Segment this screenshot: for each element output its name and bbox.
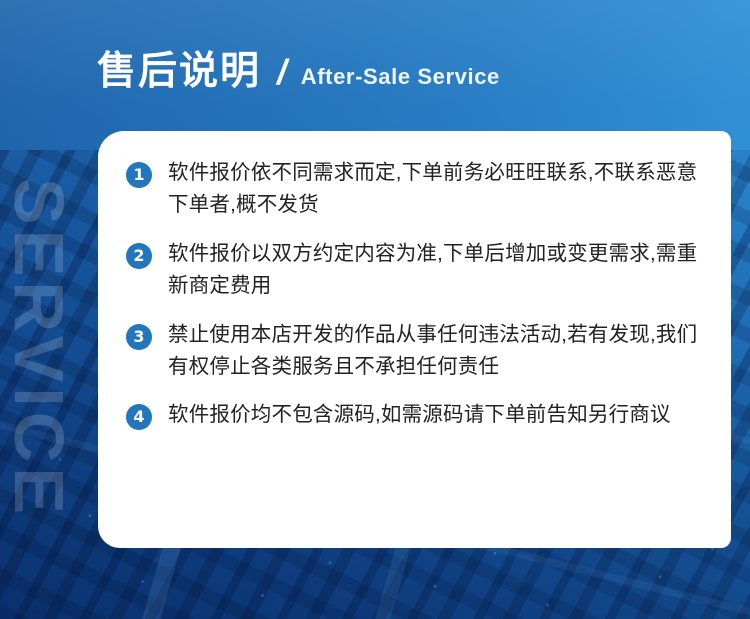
list-item: 4 软件报价均不包含源码,如需源码请下单前告知另行商议 xyxy=(126,399,715,431)
term-number-badge: 3 xyxy=(126,324,152,350)
list-item: 1 软件报价依不同需求而定,下单前务必旺旺联系,不联系恶意下单者,概不发货 xyxy=(126,157,715,222)
term-text: 禁止使用本店开发的作品从事任何违法活动,若有发现,我们有权停止各类服务且不承担任… xyxy=(168,319,715,384)
page-title: 售后说明 / After-Sale Service xyxy=(97,52,500,91)
term-text: 软件报价以双方约定内容为准,下单后增加或变更需求,需重新商定费用 xyxy=(168,238,715,303)
title-separator: / xyxy=(277,55,287,90)
term-text: 软件报价均不包含源码,如需源码请下单前告知另行商议 xyxy=(168,399,671,431)
term-number-badge: 2 xyxy=(126,243,152,269)
terms-list: 1 软件报价依不同需求而定,下单前务必旺旺联系,不联系恶意下单者,概不发货 2 … xyxy=(126,157,715,432)
list-item: 2 软件报价以双方约定内容为准,下单后增加或变更需求,需重新商定费用 xyxy=(126,238,715,303)
term-number-badge: 4 xyxy=(126,404,152,430)
terms-card: 1 软件报价依不同需求而定,下单前务必旺旺联系,不联系恶意下单者,概不发货 2 … xyxy=(98,131,731,548)
service-watermark: SERVICE xyxy=(4,178,74,518)
list-item: 3 禁止使用本店开发的作品从事任何违法活动,若有发现,我们有权停止各类服务且不承… xyxy=(126,319,715,384)
term-number-badge: 1 xyxy=(126,162,152,188)
term-text: 软件报价依不同需求而定,下单前务必旺旺联系,不联系恶意下单者,概不发货 xyxy=(168,157,715,222)
page-title-cn: 售后说明 xyxy=(97,52,261,91)
page-title-en: After-Sale Service xyxy=(301,66,500,88)
after-sale-service-banner: SERVICE 售后说明 / After-Sale Service 1 软件报价… xyxy=(0,0,750,619)
